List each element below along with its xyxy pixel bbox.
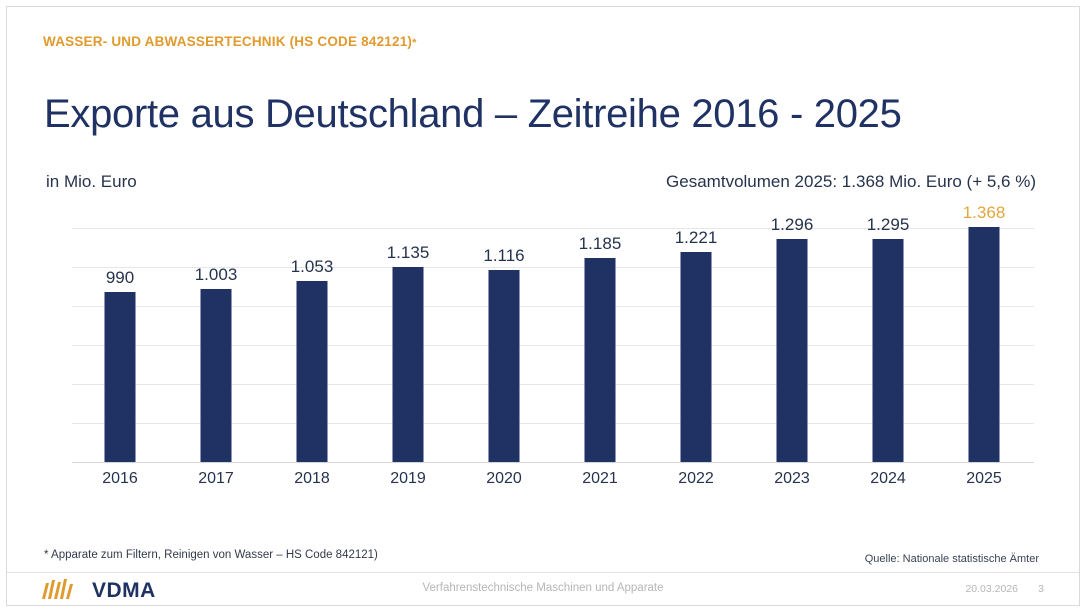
bar-group[interactable]: 1.295: [840, 224, 936, 466]
bar[interactable]: [969, 227, 1000, 462]
bar-value-label: 1.296: [771, 215, 814, 235]
bar-group[interactable]: 1.221: [648, 224, 744, 466]
x-axis-tick-label: 2020: [456, 470, 552, 488]
bar-value-label: 1.053: [291, 257, 334, 277]
bar[interactable]: [393, 267, 424, 462]
bar-value-label: 1.003: [195, 265, 238, 285]
bar[interactable]: [585, 258, 616, 462]
x-axis-tick-label: 2019: [360, 470, 456, 488]
bar-group[interactable]: 1.003: [168, 224, 264, 466]
kicker-heading: WASSER- UND ABWASSERTECHNIK (HS CODE 842…: [43, 34, 417, 49]
axis-unit-label: in Mio. Euro: [46, 172, 137, 192]
bar[interactable]: [873, 239, 904, 462]
bar-group[interactable]: 1.053: [264, 224, 360, 466]
x-axis-tick-label: 2023: [744, 470, 840, 488]
chart-x-axis: 2016201720182019202020212022202320242025: [72, 470, 1034, 494]
bar-value-label: 1.221: [675, 228, 718, 248]
bar[interactable]: [297, 281, 328, 462]
x-axis-tick-label: 2016: [72, 470, 168, 488]
kicker-text: WASSER- UND ABWASSERTECHNIK (HS CODE 842…: [43, 34, 412, 49]
bar[interactable]: [777, 239, 808, 462]
page-title: Exporte aus Deutschland – Zeitreihe 2016…: [44, 92, 902, 137]
x-axis-tick-label: 2018: [264, 470, 360, 488]
bar-value-label: 1.185: [579, 234, 622, 254]
slide: WASSER- UND ABWASSERTECHNIK (HS CODE 842…: [0, 0, 1086, 612]
footer-page-number: 3: [1038, 583, 1044, 595]
kicker-footnote-marker: *: [412, 37, 416, 49]
bar-group[interactable]: 1.135: [360, 224, 456, 466]
x-axis-tick-label: 2022: [648, 470, 744, 488]
x-axis-tick-label: 2025: [936, 470, 1032, 488]
x-axis-tick-label: 2017: [168, 470, 264, 488]
bar-group[interactable]: 1.116: [456, 224, 552, 466]
x-axis-tick-label: 2024: [840, 470, 936, 488]
source-note: Quelle: Nationale statistische Ämter: [865, 553, 1039, 565]
footer-date: 20.03.2026: [965, 583, 1018, 595]
bar[interactable]: [201, 289, 232, 462]
bar-value-label: 1.135: [387, 243, 430, 263]
bar-value-label: 990: [106, 268, 134, 288]
footer-divider: [7, 572, 1079, 573]
chart-bars: 9901.0031.0531.1351.1161.1851.2211.2961.…: [72, 224, 1034, 466]
footnote: * Apparate zum Filtern, Reinigen von Was…: [44, 549, 378, 561]
total-volume-annotation: Gesamtvolumen 2025: 1.368 Mio. Euro (+ 5…: [666, 172, 1036, 192]
bar-group[interactable]: 990: [72, 224, 168, 466]
bar-group[interactable]: 1.368: [936, 224, 1032, 466]
bar-value-label: 1.116: [483, 246, 524, 266]
bar-value-label: 1.368: [963, 203, 1006, 223]
bar[interactable]: [105, 292, 136, 462]
footer-department: Verfahrenstechnische Maschinen und Appar…: [0, 582, 1086, 594]
bar[interactable]: [681, 252, 712, 462]
bar-group[interactable]: 1.296: [744, 224, 840, 466]
bar[interactable]: [489, 270, 520, 462]
bar-value-label: 1.295: [867, 215, 910, 235]
bar-group[interactable]: 1.185: [552, 224, 648, 466]
bar-chart: 9901.0031.0531.1351.1161.1851.2211.2961.…: [72, 224, 1034, 466]
x-axis-tick-label: 2021: [552, 470, 648, 488]
